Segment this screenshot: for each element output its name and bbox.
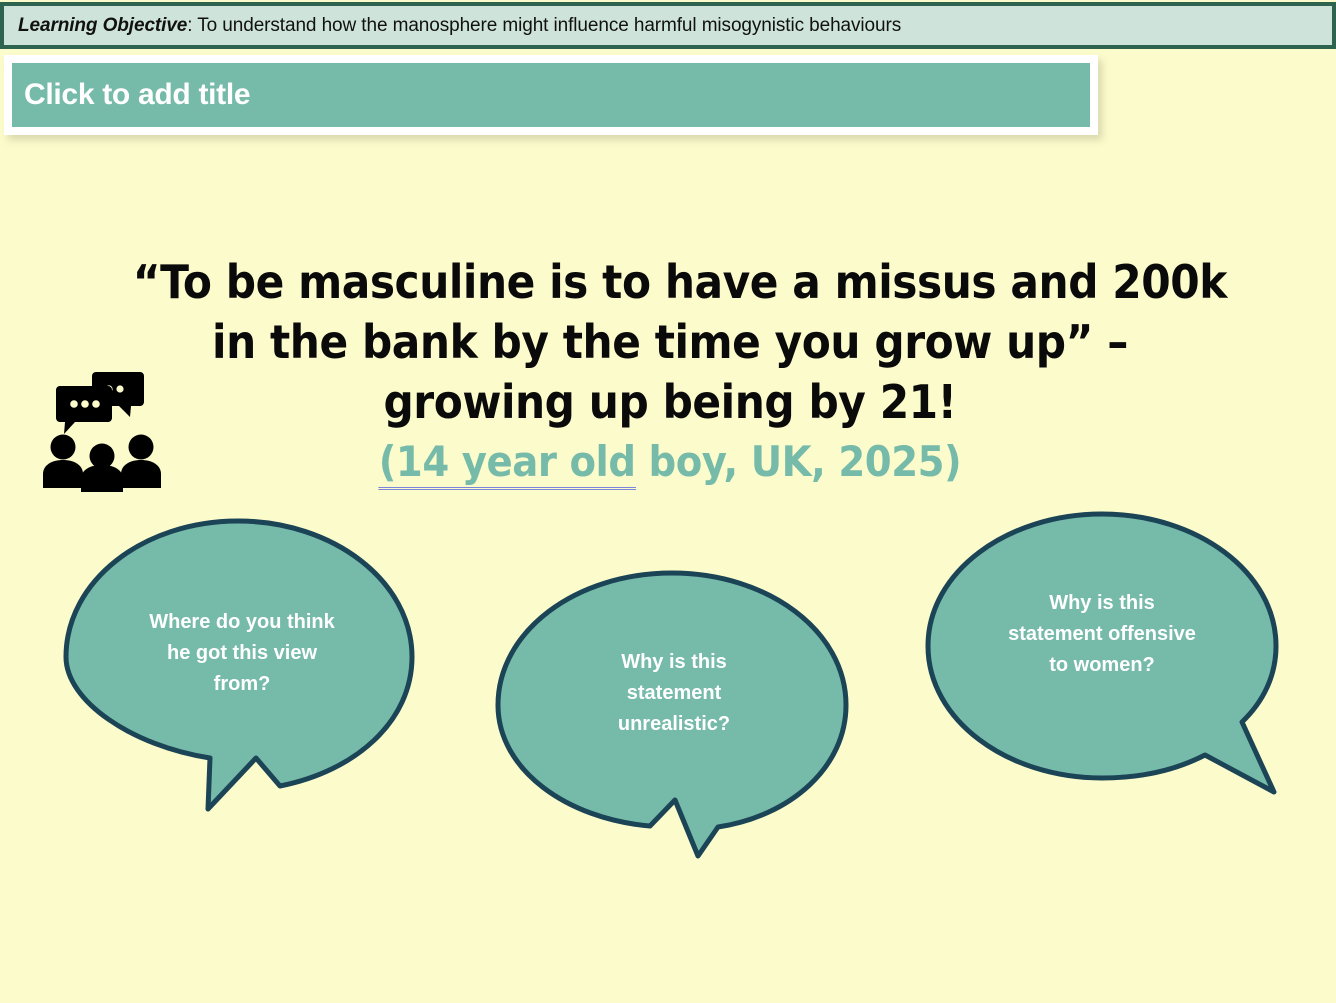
learning-objective-banner: Learning Objective: To understand how th… xyxy=(0,2,1336,49)
speech-bubble-3[interactable]: Why is this statement offensive to women… xyxy=(922,508,1282,808)
title-placeholder-text[interactable]: Click to add title xyxy=(24,78,250,112)
learning-objective-text: Learning Objective: To understand how th… xyxy=(18,15,901,37)
title-placeholder-fill[interactable]: Click to add title xyxy=(12,63,1090,127)
speech-bubble-1[interactable]: Where do you think he got this view from… xyxy=(60,515,420,815)
attribution-flagged-text: (14 year old xyxy=(379,437,636,490)
learning-objective-body: To understand how the manosphere might i… xyxy=(197,15,901,36)
speech-bubble-2[interactable]: Why is this statement unrealistic? xyxy=(492,567,852,867)
presentation-slide: Learning Objective: To understand how th… xyxy=(0,0,1336,1003)
learning-objective-inner: Learning Objective: To understand how th… xyxy=(4,6,1332,45)
quote-line-3: growing up being by 21! xyxy=(133,372,1208,432)
attribution-rest-text: boy, UK, 2025) xyxy=(636,437,962,486)
quote-line-2: in the bank by the time you grow up” – xyxy=(133,312,1208,372)
learning-objective-separator: : xyxy=(187,15,197,36)
quote-line-1: “To be masculine is to have a missus and… xyxy=(133,252,1208,312)
quote-attribution: (14 year old boy, UK, 2025) xyxy=(133,434,1208,490)
quote-block[interactable]: “To be masculine is to have a missus and… xyxy=(86,252,1254,490)
title-placeholder[interactable]: Click to add title xyxy=(4,55,1098,135)
learning-objective-label: Learning Objective xyxy=(18,15,187,36)
